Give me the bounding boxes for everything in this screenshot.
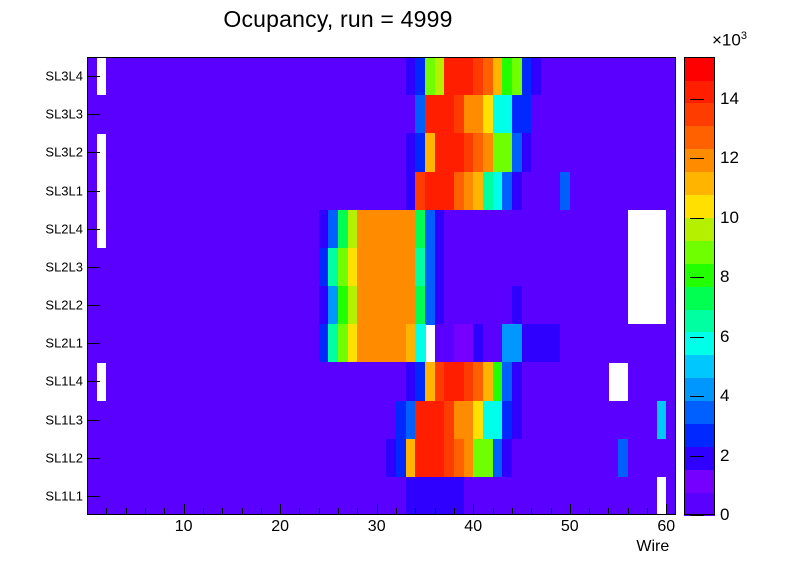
x-axis-tick <box>570 504 571 515</box>
y-axis-tick <box>87 420 100 421</box>
palette-band <box>684 469 715 493</box>
y-axis-tick-label: SL1L3 <box>45 412 83 427</box>
palette-tick <box>690 99 704 100</box>
heatmap-cell <box>666 439 676 478</box>
x-axis-tick <box>415 508 416 515</box>
y-axis-tick <box>87 343 100 344</box>
x-axis-tick <box>242 508 243 515</box>
palette-band <box>684 263 715 287</box>
y-axis-tick-label: SL3L4 <box>45 69 83 84</box>
x-axis-tick <box>184 504 185 515</box>
palette-tick-label: 6 <box>720 327 729 347</box>
x-axis-tick <box>126 508 127 515</box>
palette-tick-label: 0 <box>720 505 729 525</box>
y-axis-tick-label: SL2L4 <box>45 221 83 236</box>
y-axis-tick <box>87 267 100 268</box>
x-axis-tick <box>357 508 358 515</box>
palette-band <box>684 332 715 356</box>
heatmap-cell <box>666 477 676 515</box>
x-axis-tick-label: 20 <box>271 518 289 536</box>
palette-tick-label: 2 <box>720 446 729 466</box>
x-axis-tick <box>299 508 300 515</box>
x-axis-tick-label: 10 <box>175 518 193 536</box>
palette-tick <box>690 277 704 278</box>
x-axis-tick <box>512 508 513 515</box>
x-axis-tick <box>203 508 204 515</box>
x-axis-tick <box>396 508 397 515</box>
x-axis-tick-label: 60 <box>657 518 675 536</box>
palette-tick <box>690 515 704 516</box>
palette-band <box>684 492 715 516</box>
x-axis-tick <box>628 508 629 515</box>
x-axis-tick <box>377 504 378 515</box>
heatmap-cell <box>666 210 676 249</box>
heatmap-cell <box>666 57 676 96</box>
x-axis-tick <box>222 508 223 515</box>
palette-band <box>684 378 715 402</box>
heatmap-cells <box>87 57 676 515</box>
x-axis-tick <box>338 508 339 515</box>
root-canvas: Ocupancy, run = 4999 SL3L4SL3L3SL3L2SL3L… <box>0 0 796 572</box>
y-axis-tick-label: SL1L4 <box>45 374 83 389</box>
palette-band <box>684 446 715 470</box>
x-axis-tick <box>666 504 667 515</box>
palette-tick-label: 10 <box>720 208 739 228</box>
palette-tick-label: 14 <box>720 89 739 109</box>
palette-tick-label: 12 <box>720 148 739 168</box>
x-axis-tick-label: 50 <box>561 518 579 536</box>
palette-band <box>684 57 715 81</box>
palette-exponent-label: ×103 <box>712 30 747 51</box>
x-axis-tick <box>647 508 648 515</box>
palette-band <box>684 103 715 127</box>
palette-band <box>684 126 715 150</box>
y-axis-tick <box>87 76 100 77</box>
palette-band <box>684 355 715 379</box>
palette-band <box>684 286 715 310</box>
x-axis-tick-label: 30 <box>368 518 386 536</box>
x-axis-tick <box>319 508 320 515</box>
x-axis-tick <box>551 508 552 515</box>
y-axis-tick <box>87 191 100 192</box>
heatmap-plot-area[interactable] <box>87 57 676 515</box>
y-axis-tick-label: SL3L3 <box>45 107 83 122</box>
y-axis-tick <box>87 152 100 153</box>
heatmap-cell <box>666 248 676 287</box>
palette-tick <box>690 158 704 159</box>
x-axis-tick <box>261 508 262 515</box>
x-axis-tick <box>589 508 590 515</box>
x-axis-tick-label: 40 <box>464 518 482 536</box>
y-axis-tick-label: SL3L1 <box>45 183 83 198</box>
x-axis-tick <box>531 508 532 515</box>
palette-tick-label: 4 <box>720 386 729 406</box>
x-axis-tick <box>106 508 107 515</box>
x-axis-tick <box>493 508 494 515</box>
x-axis-tick <box>473 504 474 515</box>
y-axis-tick-label: SL3L2 <box>45 145 83 160</box>
palette-tick <box>690 396 704 397</box>
palette-tick <box>690 337 704 338</box>
heatmap-cell <box>618 210 628 249</box>
palette-tick <box>690 218 704 219</box>
palette-band <box>684 80 715 104</box>
palette-band <box>684 149 715 173</box>
heatmap-cell <box>415 324 425 363</box>
heatmap-cell <box>618 286 628 325</box>
heatmap-cell <box>666 324 676 363</box>
y-axis-tick-label: SL2L3 <box>45 259 83 274</box>
palette-tick-label: 8 <box>720 267 729 287</box>
palette-band <box>684 423 715 447</box>
y-axis-tick <box>87 114 100 115</box>
heatmap-cell <box>666 95 676 134</box>
x-axis-tick <box>164 508 165 515</box>
palette-band <box>684 309 715 333</box>
heatmap-cell <box>666 401 676 440</box>
y-axis-tick <box>87 458 100 459</box>
heatmap-cell <box>666 172 676 211</box>
y-axis-tick <box>87 381 100 382</box>
palette-tick <box>690 456 704 457</box>
color-palette-bar <box>684 57 715 515</box>
page-title: Ocupancy, run = 4999 <box>0 6 676 33</box>
palette-band <box>684 194 715 218</box>
x-axis-title: Wire <box>636 538 669 556</box>
y-axis-tick-label: SL2L1 <box>45 336 83 351</box>
heatmap-cell <box>666 362 676 401</box>
palette-band <box>684 172 715 196</box>
heatmap-cell <box>666 286 676 325</box>
x-axis-tick <box>454 508 455 515</box>
heatmap-cell <box>666 133 676 172</box>
y-axis-tick <box>87 305 100 306</box>
heatmap-cell <box>647 477 657 515</box>
x-axis-tick <box>145 508 146 515</box>
y-axis-labels: SL3L4SL3L3SL3L2SL3L1SL2L4SL2L3SL2L2SL2L1… <box>0 0 83 572</box>
y-axis-tick <box>87 496 100 497</box>
heatmap-cell <box>618 248 628 287</box>
y-axis-tick-label: SL2L2 <box>45 298 83 313</box>
y-axis-tick <box>87 229 100 230</box>
palette-band <box>684 401 715 425</box>
y-axis-tick-label: SL1L1 <box>45 488 83 503</box>
x-axis-tick <box>435 508 436 515</box>
y-axis-tick-label: SL1L2 <box>45 450 83 465</box>
x-axis-tick <box>608 508 609 515</box>
x-axis-tick <box>280 504 281 515</box>
palette-band <box>684 217 715 241</box>
heatmap-cell <box>599 362 609 401</box>
palette-band <box>684 240 715 264</box>
